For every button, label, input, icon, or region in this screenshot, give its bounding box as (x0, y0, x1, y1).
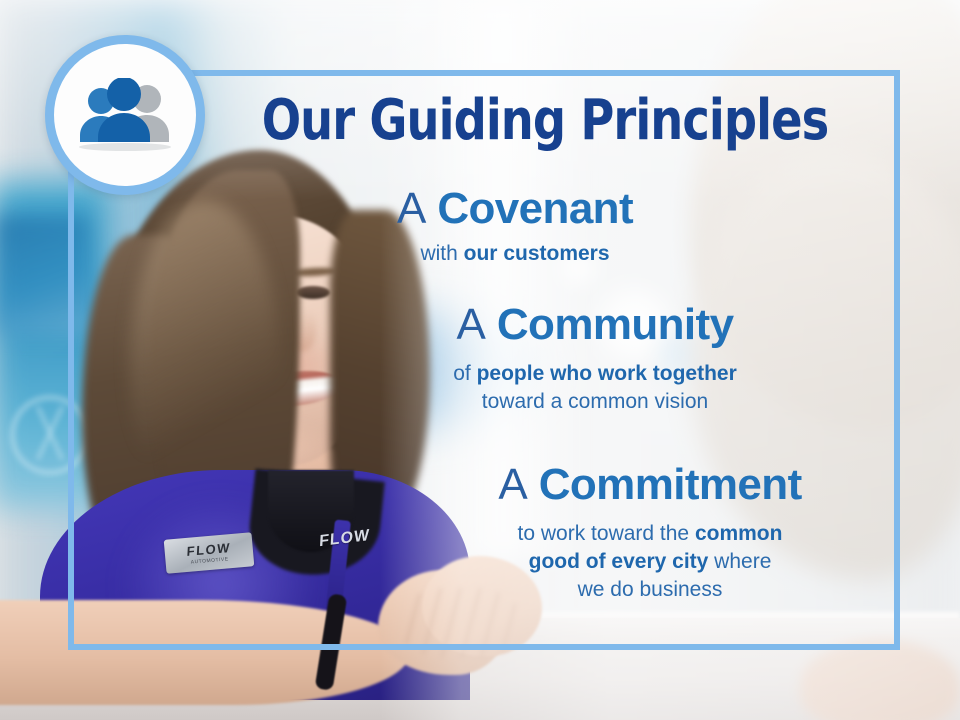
subtitle-text: to work toward the (518, 522, 695, 545)
subtitle-line: with our customers (330, 240, 700, 268)
poster-canvas: FLOW AUTOMOTIVE FLOW (0, 0, 960, 720)
subtitle-emphasis: good of every city (529, 550, 709, 573)
subtitle-emphasis: our customers (464, 242, 610, 265)
group-people-badge (45, 35, 205, 195)
subtitle-line: of people who work together (385, 360, 805, 388)
principle-block-commitment: A Commitment to work toward the commongo… (435, 462, 865, 603)
principle-headline: A Commitment (435, 462, 865, 508)
principle-headline: A Community (385, 302, 805, 348)
subtitle-emphasis: people who work together (477, 362, 737, 385)
subtitle-text: we do business (578, 578, 723, 601)
woman-eye (296, 286, 330, 299)
principle-subtitle: to work toward the commongood of every c… (435, 520, 865, 603)
subtitle-line: to work toward the common (435, 520, 865, 548)
car-brand-logo (10, 395, 90, 475)
page-title: Our Guiding Principles (241, 92, 848, 149)
principle-article: A (457, 300, 486, 349)
principle-keyword: Community (497, 300, 734, 349)
subtitle-line: toward a common vision (385, 388, 805, 416)
subtitle-text: of (453, 362, 476, 385)
name-badge-brand: FLOW (186, 541, 231, 558)
principle-keyword: Commitment (539, 460, 802, 509)
principle-block-community: A Community of people who work togethert… (385, 302, 805, 416)
subtitle-text: where (708, 550, 771, 573)
subtitle-line: good of every city where (435, 548, 865, 576)
principle-block-covenant: A Covenant with our customers (330, 186, 700, 268)
principle-keyword: Covenant (437, 184, 633, 233)
subtitle-text: with (420, 242, 463, 265)
principle-headline: A Covenant (330, 186, 700, 232)
showroom-display-screen (0, 215, 90, 335)
principle-article: A (498, 460, 527, 509)
principle-subtitle: of people who work togethertoward a comm… (385, 360, 805, 415)
subtitle-line: we do business (435, 576, 865, 604)
subtitle-text: toward a common vision (482, 390, 708, 413)
chest-logo-text: FLOW (319, 528, 371, 550)
principle-subtitle: with our customers (330, 240, 700, 268)
subtitle-emphasis: common (695, 522, 783, 545)
principle-article: A (397, 184, 426, 233)
woman-arm (0, 600, 410, 705)
group-people-icon (73, 78, 177, 152)
